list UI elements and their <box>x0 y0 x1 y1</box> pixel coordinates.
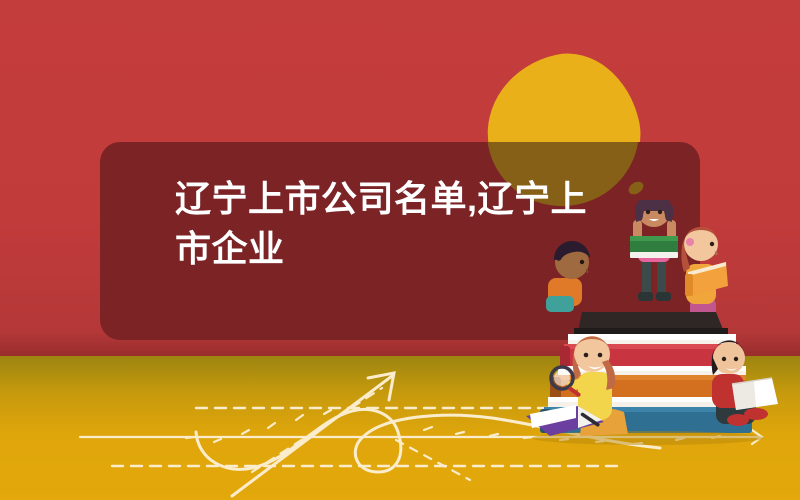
children-reading-illustration <box>520 200 800 500</box>
poster-canvas: 辽宁上市公司名单,辽宁上市企业 <box>0 0 800 500</box>
girl-standing-green-book <box>630 200 678 301</box>
title-line-2: 市企业 <box>175 228 285 269</box>
boy-red-shirt <box>712 340 778 426</box>
boy-orange-shirt <box>546 241 590 312</box>
